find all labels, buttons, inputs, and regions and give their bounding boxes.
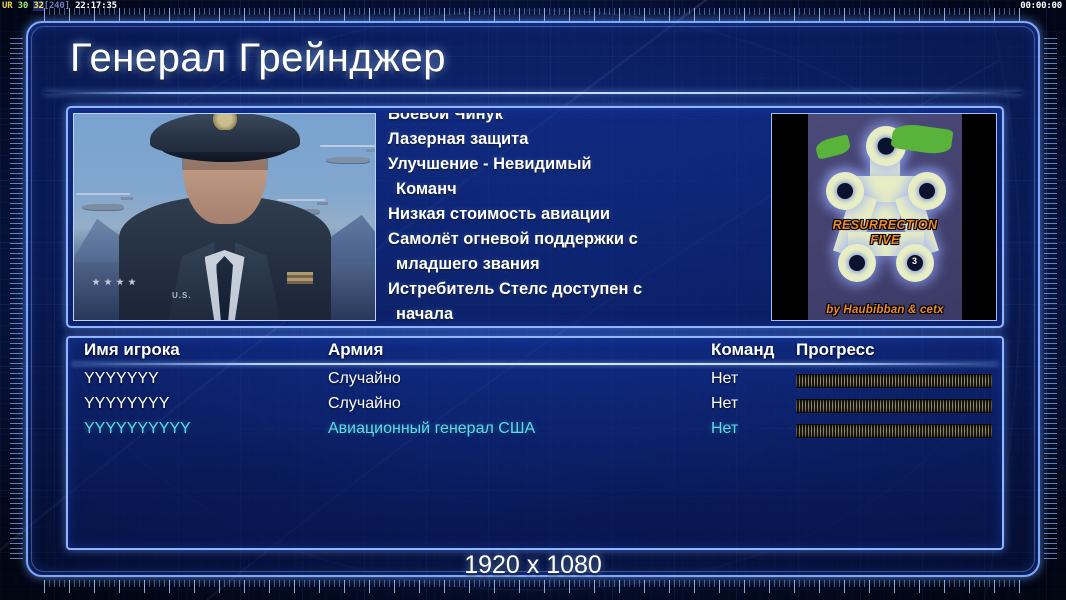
- bonus-line: Самолёт огневой поддержки с: [388, 227, 760, 252]
- player-army-cell[interactable]: Случайно: [328, 395, 401, 413]
- debug-topbar: UR 30 32[240] 22:17:35 00:00:00: [0, 0, 1066, 13]
- bonus-line: Улучшение - Невидимый: [388, 152, 760, 177]
- perf-prefix: UR: [2, 1, 12, 11]
- map-author: by Haubibban & cetx: [808, 304, 962, 316]
- map-name-line2: FIVE: [808, 233, 962, 248]
- general-bonus-list-inner: Боевой ЧинукЛазерная защитаУлучшение - Н…: [388, 113, 760, 321]
- column-header-player: Имя игрока: [84, 340, 180, 360]
- column-header-army: Армия: [328, 340, 383, 360]
- player-list-header: Имя игрока Армия Команд Прогресс: [68, 340, 1002, 364]
- general-bonus-list: Боевой ЧинукЛазерная защитаУлучшение - Н…: [380, 113, 766, 321]
- performance-readout: UR 30 32[240] 22:17:35: [2, 0, 117, 13]
- general-info-panel: U.S. Боевой ЧинукЛазерная защитаУлучшени…: [66, 106, 1004, 328]
- player-team-cell[interactable]: Нет: [711, 395, 738, 413]
- general-portrait: U.S.: [73, 113, 376, 321]
- player-progress-bar: [796, 424, 992, 438]
- bonus-line: начала: [388, 302, 760, 321]
- player-name-cell[interactable]: YYYYYYY: [84, 370, 159, 388]
- portrait-tint-overlay: [74, 114, 375, 320]
- map-name-line1: RESURRECTION: [808, 218, 962, 233]
- player-name-cell[interactable]: YYYYYYYY: [84, 395, 169, 413]
- player-team-cell[interactable]: Нет: [711, 370, 738, 388]
- player-list-panel: Имя игрока Армия Команд Прогресс YYYYYYY…: [66, 336, 1004, 550]
- map-preview[interactable]: 3 RESURRECTION FIVE by Haubibban & cetx: [771, 113, 997, 321]
- player-progress-bar: [796, 399, 992, 413]
- map-start-position: [826, 172, 864, 210]
- map-decoration-icon: [814, 134, 851, 160]
- player-name-cell[interactable]: YYYYYYYYYY: [84, 420, 191, 438]
- perf-fps: 30: [18, 1, 28, 11]
- map-start-position: [838, 244, 876, 282]
- bonus-line: Лазерная защита: [388, 127, 760, 152]
- player-list-header-divider: [72, 363, 998, 365]
- map-start-position: [908, 172, 946, 210]
- map-preview-image: 3 RESURRECTION FIVE by Haubibban & cetx: [808, 114, 962, 321]
- player-row[interactable]: YYYYYYYYYYАвиационный генерал СШАНет: [68, 420, 1002, 445]
- player-army-cell[interactable]: Авиационный генерал США: [328, 420, 535, 438]
- player-progress-bar: [796, 374, 992, 388]
- resolution-label: 1920 x 1080: [0, 551, 1066, 580]
- column-header-progress: Прогресс: [796, 340, 875, 360]
- bonus-line: Низкая стоимость авиации: [388, 202, 760, 227]
- bonus-line: младшего звания: [388, 252, 760, 277]
- perf-frame: 32: [33, 1, 43, 11]
- player-team-cell[interactable]: Нет: [711, 420, 738, 438]
- map-slot-number: 3: [912, 256, 917, 266]
- perf-bracket: [240]: [44, 1, 70, 11]
- page-title: Генерал Грейнджер: [70, 36, 446, 81]
- map-name: RESURRECTION FIVE: [808, 218, 962, 248]
- bonus-line: Боевой Чинук: [388, 113, 760, 127]
- bonus-line: Истребитель Стелс доступен с: [388, 277, 760, 302]
- title-divider: [44, 92, 1022, 94]
- column-header-team: Команд: [711, 340, 774, 360]
- session-clock: 00:00:00: [1020, 0, 1062, 13]
- player-row[interactable]: YYYYYYYСлучайноНет: [68, 370, 1002, 395]
- bonus-line: Команч: [388, 177, 760, 202]
- player-row[interactable]: YYYYYYYYСлучайноНет: [68, 395, 1002, 420]
- perf-time: 22:17:35: [75, 1, 117, 11]
- player-army-cell[interactable]: Случайно: [328, 370, 401, 388]
